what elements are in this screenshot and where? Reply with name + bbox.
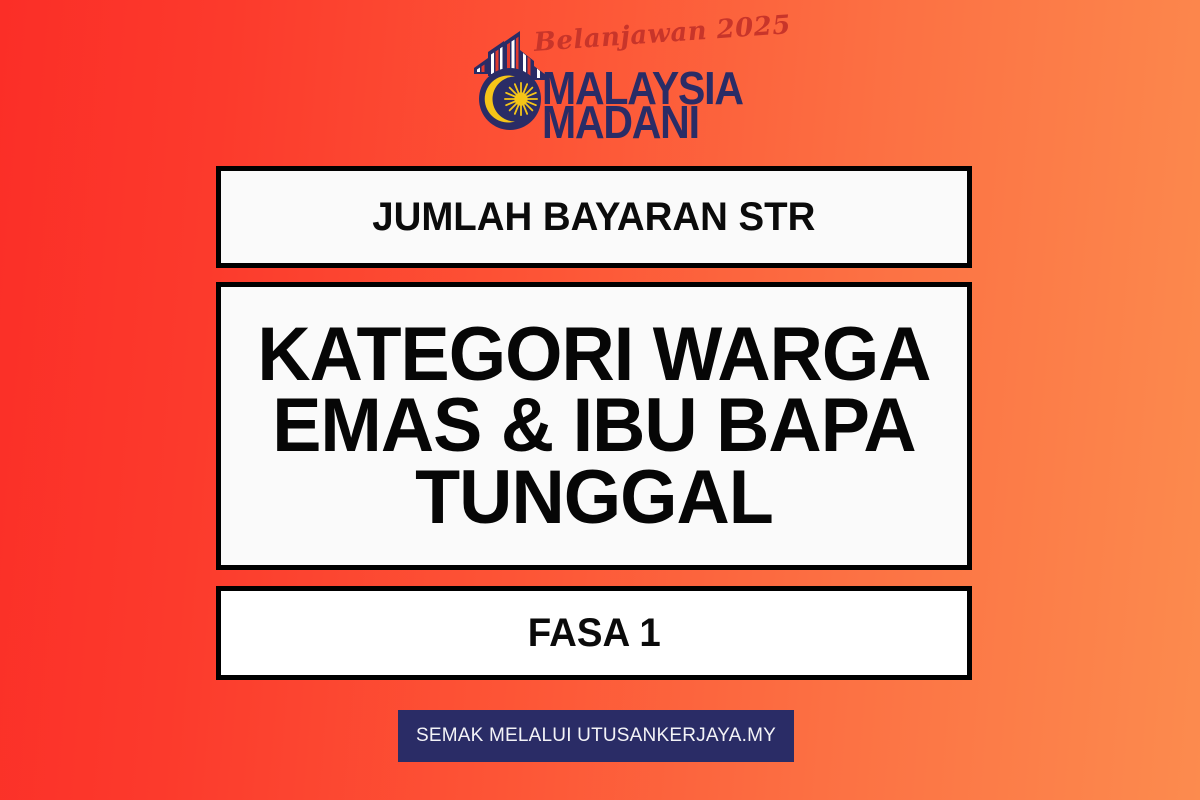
title-line-1: KATEGORI WARGA — [257, 319, 930, 390]
poster-canvas: Belanjawan 2025 MALAYSIA MADANI JUMLAH B… — [0, 0, 1200, 800]
phase-panel: FASA 1 — [216, 586, 972, 680]
title-panel: KATEGORI WARGA EMAS & IBU BAPA TUNGGAL — [216, 282, 972, 570]
subtitle-text: JUMLAH BAYARAN STR — [372, 196, 815, 238]
title-line-2: EMAS & IBU BAPA — [257, 390, 930, 461]
footer-cta-text: SEMAK MELALUI UTUSANKERJAYA.MY — [416, 725, 776, 747]
subtitle-panel: JUMLAH BAYARAN STR — [216, 166, 972, 268]
logo-wordmark-madani: MADANI — [542, 100, 699, 146]
phase-text: FASA 1 — [527, 612, 660, 654]
page-title: KATEGORI WARGA EMAS & IBU BAPA TUNGGAL — [252, 319, 937, 533]
footer-cta-banner[interactable]: SEMAK MELALUI UTUSANKERJAYA.MY — [398, 710, 794, 762]
logo-script-text: Belanjawan 2025 — [533, 10, 792, 58]
title-line-3: TUNGGAL — [257, 462, 930, 533]
malaysia-madani-logo: Belanjawan 2025 MALAYSIA MADANI — [468, 14, 738, 136]
